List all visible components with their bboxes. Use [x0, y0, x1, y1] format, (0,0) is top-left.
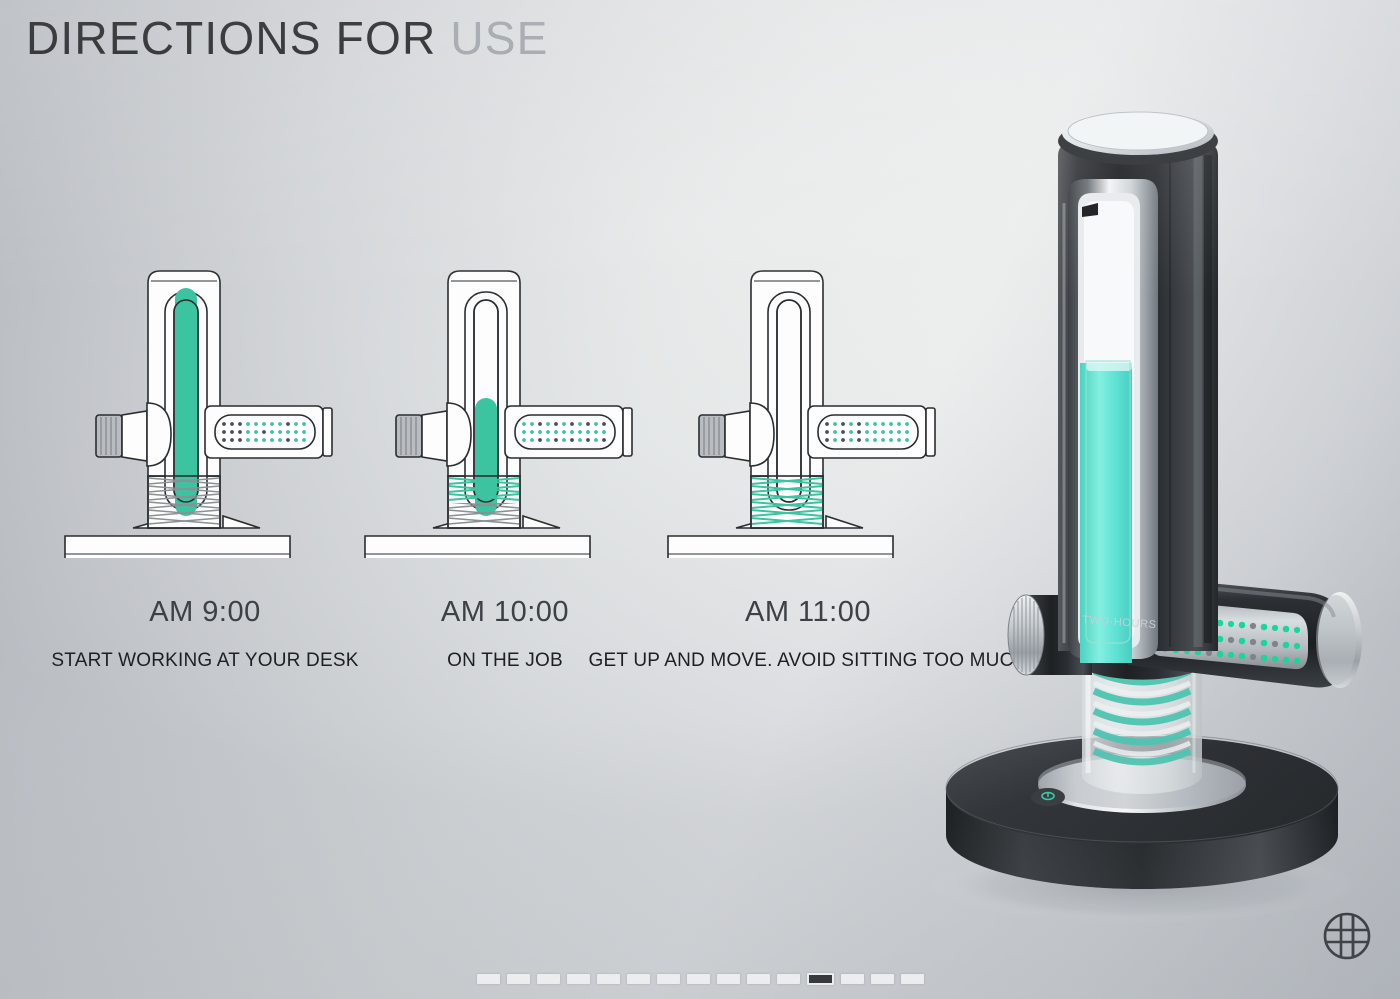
pagination-dash[interactable]	[507, 974, 530, 984]
step-time-label: AM 9:00	[55, 596, 355, 629]
pagination-dash[interactable]	[567, 974, 590, 984]
pagination-dash[interactable]	[777, 974, 800, 984]
step-item: AM 11:00 GET UP AND MOVE. AVOID SITTING …	[658, 248, 958, 558]
pagination-dash[interactable]	[747, 974, 770, 984]
pagination-dash[interactable]	[687, 974, 710, 984]
step-time-label: AM 11:00	[658, 596, 958, 629]
device-line-drawing	[55, 248, 355, 558]
pagination-dash[interactable]	[537, 974, 560, 984]
circle-grid-logo	[1320, 909, 1374, 963]
step-time-label: AM 10:00	[355, 596, 655, 629]
pagination-dash[interactable]	[901, 974, 924, 984]
page-title-secondary: USE	[450, 12, 548, 64]
device-diagram-step-2	[355, 248, 655, 558]
page-title: DIRECTIONS FOR USE	[26, 12, 549, 65]
device-line-drawing	[658, 248, 958, 558]
product-column	[1058, 131, 1218, 663]
top-cap	[1058, 111, 1218, 165]
pagination-dash[interactable]	[657, 974, 680, 984]
step-item: AM 10:00 ON THE JOB	[355, 248, 655, 558]
pagination-dash[interactable]	[597, 974, 620, 984]
pagination-dash[interactable]	[871, 974, 894, 984]
power-indicator-button[interactable]	[1031, 788, 1065, 806]
page-title-primary: DIRECTIONS FOR	[26, 12, 436, 64]
product-3d-render: TWO·HOURS	[930, 95, 1370, 925]
pagination-dash[interactable]	[717, 974, 740, 984]
slide-pagination[interactable]	[0, 973, 1400, 985]
steps-row: AM 9:00 START WORKING AT YOUR DESK	[0, 248, 1000, 688]
device-line-drawing	[355, 248, 655, 558]
pagination-dash-active[interactable]	[807, 973, 834, 985]
slide-canvas: DIRECTIONS FOR USE	[0, 0, 1400, 999]
step-item: AM 9:00 START WORKING AT YOUR DESK	[55, 248, 355, 558]
pagination-dash[interactable]	[477, 974, 500, 984]
device-diagram-step-3	[658, 248, 958, 558]
pagination-dash[interactable]	[841, 974, 864, 984]
device-diagram-step-1	[55, 248, 355, 558]
pagination-dash[interactable]	[627, 974, 650, 984]
